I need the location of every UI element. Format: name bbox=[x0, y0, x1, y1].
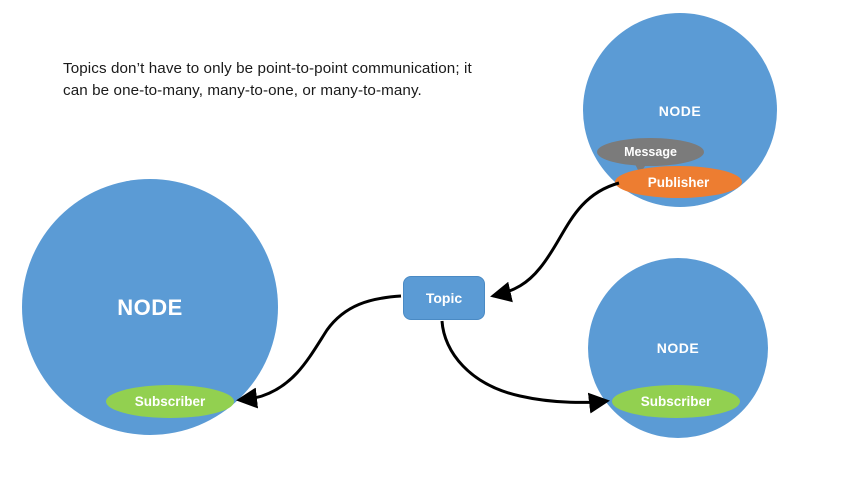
publisher-ellipse[interactable]: Publisher bbox=[615, 166, 742, 198]
node-top-right-label: NODE bbox=[583, 103, 777, 119]
diagram-canvas: Topics don’t have to only be point-to-po… bbox=[0, 0, 854, 480]
node-bottom-right-label: NODE bbox=[588, 340, 768, 356]
node-left-label: NODE bbox=[22, 295, 278, 321]
arrow-topic-to-bottom-right-subscriber bbox=[442, 321, 607, 402]
message-ellipse-label: Message bbox=[624, 145, 677, 159]
subscriber-ellipse-left[interactable]: Subscriber bbox=[106, 385, 234, 418]
topic-box[interactable]: Topic bbox=[403, 276, 485, 320]
arrow-publisher-to-topic bbox=[493, 183, 619, 296]
publisher-ellipse-label: Publisher bbox=[648, 175, 710, 190]
subscriber-ellipse-bottom-right[interactable]: Subscriber bbox=[612, 385, 740, 418]
subscriber-ellipse-bottom-right-label: Subscriber bbox=[641, 394, 712, 409]
subscriber-ellipse-left-label: Subscriber bbox=[135, 394, 206, 409]
topic-box-label: Topic bbox=[426, 290, 462, 306]
message-ellipse[interactable]: Message bbox=[597, 138, 704, 166]
caption-text: Topics don’t have to only be point-to-po… bbox=[63, 58, 483, 101]
